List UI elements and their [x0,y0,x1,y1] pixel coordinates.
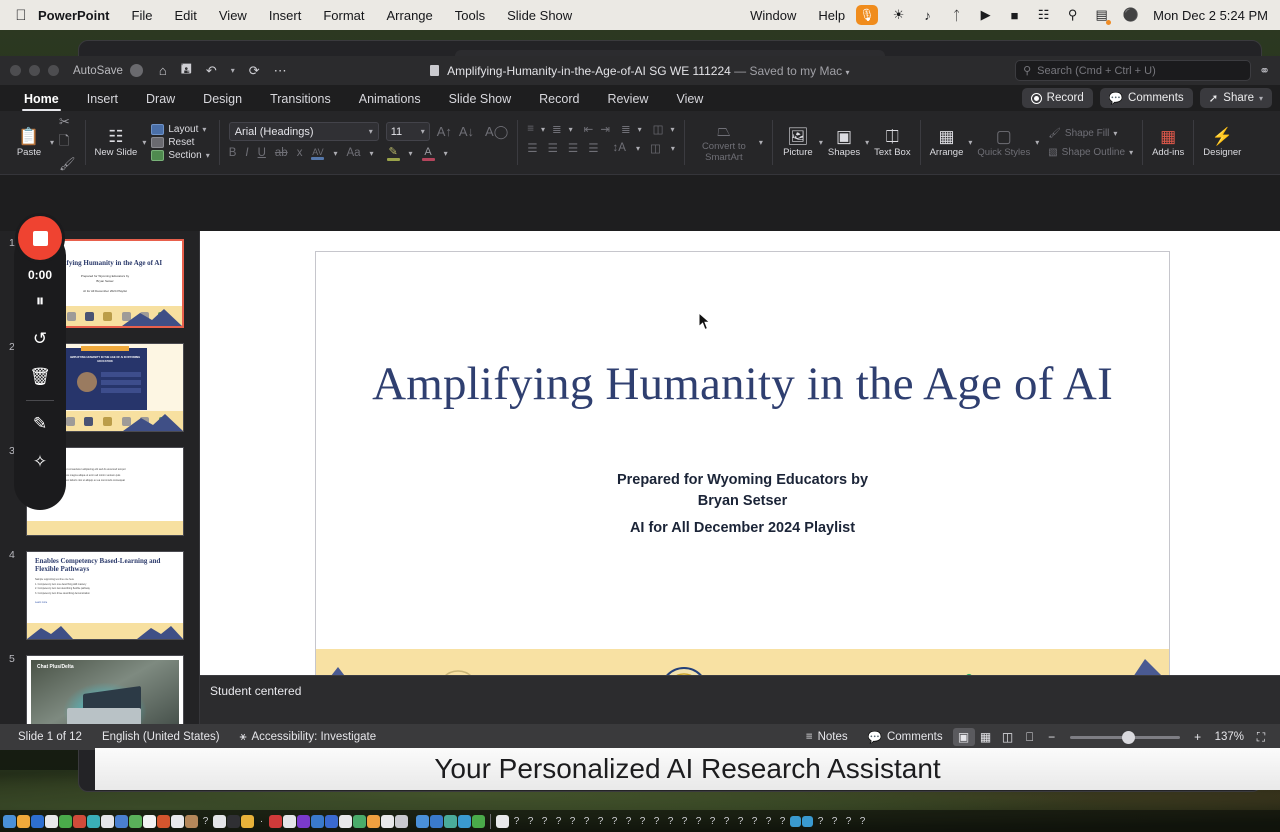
dock-icon-pages[interactable] [213,815,226,828]
presenter-view-icon[interactable]: ⎕ [1019,728,1041,746]
chevron-down-icon: ▾ [369,127,373,136]
add-ins-icon: ▦ [1160,127,1176,147]
ribbon-home-tab-content: 📋 Paste ▾ ✂ 🗋 🖌 ☷ New Slide ▾ Layout [0,111,1280,175]
chevron-down-icon[interactable]: ▾ [444,149,448,158]
dock-icon-unknown[interactable]: ? [664,816,677,827]
font-size-input[interactable]: 11 ▾ [386,122,430,141]
dock-icon-unknown[interactable]: ? [552,816,565,827]
apple-logo-icon[interactable]:  [8,8,34,23]
control-center-icon[interactable]: ▤ [1093,7,1110,24]
slide-count-label: Slide 1 of 12 [8,731,92,743]
dock-icon-unknown[interactable]: ? [524,816,537,827]
copy-icon[interactable]: 🗋 [59,132,76,154]
dock-icon-maps[interactable] [115,815,128,828]
powerpoint-titlebar: AutoSave ⌂ 🖪 ↶ ▾ ⟳ ⋯ Amplifying-Humanity… [0,56,1280,85]
menu-window[interactable]: Window [739,8,807,23]
redo-icon[interactable]: ⟳ [249,63,260,79]
scissors-icon[interactable]: ✂ [59,114,76,130]
minimize-window-button[interactable] [29,65,40,76]
slide-sorter-icon[interactable]: ▦ [975,728,997,746]
search-icon: ⚲ [1023,64,1031,77]
comments-button[interactable]: 💬 Comments [858,730,953,744]
bold-button[interactable]: B [229,147,237,159]
file-icon [430,65,439,76]
picture-label: Picture [783,148,813,159]
tab-design[interactable]: Design [189,92,256,111]
thumbnail-footer-band [27,623,183,639]
dock-icon-photos[interactable] [143,815,156,828]
chevron-down-icon[interactable]: ▾ [370,149,374,158]
dock-icon-unknown[interactable]: ? [538,816,551,827]
accessibility-icon: ⚹ [240,731,247,744]
ribbon-divider [684,120,685,165]
dock-icon-calendar[interactable] [87,815,100,828]
add-ins-button[interactable]: ▦ Add-ins [1152,127,1184,159]
slide-thumbnail-4[interactable]: 4 Enables Competency Based-Learning and … [26,551,184,640]
shape-outline-icon: ▧ [1048,147,1057,158]
dock-icon-unknown[interactable]: ? [842,816,855,827]
title-chevron-down-icon[interactable]: ▾ [846,68,850,77]
workspace: 1 Amplifying Humanity in the Age of AI P… [0,231,1280,724]
menu-edit[interactable]: Edit [163,8,207,23]
chevron-down-icon[interactable]: ▾ [409,149,413,158]
convert-to-smartart-button[interactable]: ⏢ Convert to SmartArt [694,121,754,163]
tab-review[interactable]: Review [593,92,662,111]
chevron-down-icon[interactable]: ▾ [541,125,545,134]
dock-icon-unknown[interactable]: ? [856,816,869,827]
quick-styles-label: Quick Styles [977,148,1030,159]
dock-icon-settings[interactable] [395,815,408,828]
arrange-button[interactable]: ▦ Arrange [930,127,964,159]
record-button[interactable]: Record [1022,88,1093,108]
dock-icon-documents[interactable] [444,815,457,828]
dock-icon-keynote[interactable] [241,815,254,828]
fit-to-window-icon[interactable]: ⛶ [1250,728,1272,746]
siri-icon[interactable]: ⚫ [1122,7,1139,24]
ribbon-group-drawing: ▦ Arrange ▾ ▢ Quick Styles ▾ 🖌 Shape Fil… [923,113,1141,172]
close-window-button[interactable] [10,65,21,76]
window-controls[interactable] [10,65,59,76]
comments-button[interactable]: 💬 Comments [1100,88,1193,108]
dock-icon-unknown[interactable]: ? [636,816,649,827]
ribbon-divider [772,120,773,165]
dock-icon-mail[interactable] [45,815,58,828]
ai-window-heading: Your Personalized AI Research Assistant [434,753,940,785]
quick-styles-icon: ▢ [996,127,1012,147]
share-button-label: Share [1223,92,1254,104]
dock-icon-unknown[interactable]: ? [566,816,579,827]
designer-label: Designer [1203,148,1241,159]
chevron-down-icon[interactable]: ▾ [636,144,640,153]
strikethrough-button[interactable]: ab [275,147,288,159]
ribbon-divider [1142,120,1143,165]
chevron-down-icon: ▾ [1129,148,1133,157]
autosave-toggle[interactable] [130,64,143,77]
slide-playlist-textbox[interactable]: AI for All December 2024 Playlist [316,520,1169,536]
slide-subtitle-textbox[interactable]: Prepared for Wyoming Educators by Bryan … [316,470,1169,511]
menu-view[interactable]: View [208,8,258,23]
mouse-cursor [698,312,711,331]
shape-fill-button[interactable]: 🖌 Shape Fill ▾ [1048,128,1133,139]
chevron-down-icon[interactable]: ▾ [865,138,869,147]
decrease-font-size-icon[interactable]: A↓ [459,124,474,139]
shape-outline-label: Shape Outline [1062,147,1125,158]
language-label[interactable]: English (United States) [92,731,230,743]
accessibility-button[interactable]: ⚹ Accessibility: Investigate [230,731,387,744]
chevron-down-icon: ▾ [206,151,210,160]
layout-button[interactable]: Layout ▾ [151,124,209,135]
pause-recording-button[interactable]: ⏸ [14,282,66,320]
clipboard-icon: 📋 [18,127,39,147]
record-dot-icon [1031,93,1042,104]
dock-icon-reminders[interactable] [171,815,184,828]
search-placeholder: Search (Cmd + Ctrl + U) [1037,65,1156,77]
current-slide[interactable]: Amplifying Humanity in the Age of AI Pre… [315,251,1170,734]
thumbnail-title: Chat Plus/Delta [37,664,74,670]
tab-transitions[interactable]: Transitions [256,92,345,111]
home-icon[interactable]: ⌂ [159,63,167,78]
accessibility-label: Accessibility: Investigate [251,731,376,743]
dock-icon-sheets[interactable] [472,815,485,828]
font-name-value: Arial (Headings) [235,126,314,138]
convert-to-smartart-label: Convert to SmartArt [694,142,754,163]
dock-icon-unknown[interactable]: ? [622,816,635,827]
dock-icon-messages[interactable] [59,815,72,828]
zoom-out-button[interactable]: − [1041,728,1063,746]
recording-timer: 0:00 [28,268,52,282]
slide-title-textbox[interactable]: Amplifying Humanity in the Age of AI [316,357,1169,411]
zoom-level-label: 137% [1209,731,1250,743]
tab-slide-show[interactable]: Slide Show [435,92,526,111]
decrease-indent-icon[interactable]: ⇤ [580,122,594,136]
smartart-icon: ⏢ [717,121,731,141]
menu-format[interactable]: Format [312,8,375,23]
ribbon-divider [517,120,518,165]
section-icon [151,150,164,161]
comment-bubble-icon: 💬 [868,730,882,744]
record-button-label: Record [1047,92,1084,104]
chevron-down-icon[interactable]: ▾ [671,144,675,153]
notes-pane[interactable]: Student centered [200,675,1280,724]
paste-button[interactable]: 📋 Paste [13,127,45,159]
menu-file[interactable]: File [121,8,164,23]
slide-number: 5 [9,653,15,665]
dock-icon-app[interactable] [802,816,813,827]
chevron-down-icon[interactable]: ▾ [638,125,642,134]
dock-icon-excel[interactable] [353,815,366,828]
add-ins-label: Add-ins [1152,148,1184,159]
ribbon-group-addins: ▦ Add-ins [1145,113,1191,172]
dock-icon-unknown[interactable]: ? [650,816,663,827]
document-name: Amplifying-Humanity-in-the-Age-of-AI SG … [447,64,731,78]
increase-indent-icon[interactable]: ⇥ [600,122,610,136]
menu-tools[interactable]: Tools [444,8,496,23]
dock-icon-notes[interactable] [101,815,114,828]
arrange-icon: ▦ [938,127,954,147]
zoom-slider[interactable] [1070,736,1180,739]
sun-icon[interactable]: ☀ [890,7,907,24]
ribbon-divider [1193,120,1194,165]
wifi-icon[interactable]: ☷ [1035,7,1052,24]
slide-thumbnail-5[interactable]: 5 Chat Plus/Delta [26,655,184,724]
align-center-icon[interactable]: ☰ [548,141,558,155]
dock-icon-unknown[interactable]: ? [748,816,761,827]
dock-icon-onenote[interactable] [297,815,310,828]
font-name-input[interactable]: Arial (Headings) ▾ [229,122,379,141]
increase-font-size-icon[interactable]: A↑ [437,124,452,139]
dock-icon-unknown[interactable]: ? [720,816,733,827]
new-slide-label: New Slide [95,148,138,159]
designer-icon: ⚡ [1212,127,1233,147]
dock-icon-teams[interactable] [311,815,324,828]
dock-icon-slack[interactable] [367,815,380,828]
screen-record-icon[interactable]: ▶ [977,7,994,24]
collaborators-icon[interactable]: ⚭ [1259,63,1270,79]
reset-icon [151,137,164,148]
slide-number: 1 [9,237,15,249]
chevron-down-icon[interactable]: ▾ [333,149,337,158]
toolbar-divider [26,400,54,401]
bluetooth-icon[interactable]: ᛏ [948,7,965,24]
tab-view[interactable]: View [662,92,717,111]
text-highlight-icon[interactable]: ✎ [387,145,400,161]
zoom-in-button[interactable]: + [1187,728,1209,746]
chevron-down-icon: ▾ [421,127,425,136]
text-shadow-button[interactable]: x [297,147,303,159]
shape-fill-icon: 🖌 [1048,128,1061,139]
menu-bar-clock[interactable]: Mon Dec 2 5:24 PM [1151,8,1268,23]
ai-research-assistant-window[interactable]: Your Personalized AI Research Assistant [95,748,1280,790]
chevron-down-icon: ▾ [202,125,206,134]
maximize-window-button[interactable] [48,65,59,76]
delete-recording-button[interactable]: 🗑 [14,358,66,396]
ribbon-group-paragraph: ≡ ▾ ≣ ▾ ⇤ ⇥ ≣ ▾ ◫ ▾ ☰ ☰ ☰ ☰ ↕A ▾ ◫ ▾ [520,113,682,172]
chevron-down-icon[interactable]: ▾ [759,138,763,147]
menu-insert[interactable]: Insert [258,8,313,23]
dock-icon-drive[interactable] [458,815,471,828]
designer-button[interactable]: ⚡ Designer [1203,127,1241,159]
text-direction-icon[interactable]: ↕A [609,142,626,154]
screen-recording-toolbar[interactable]: 0:00 ⏸ ↺ 🗑 ✎ ✧ [14,230,66,510]
pencil-icon[interactable]: ✎ [14,405,66,443]
chevron-down-icon[interactable]: ▾ [670,125,674,134]
paste-chevron-down-icon[interactable]: ▾ [50,138,54,147]
ribbon-group-designer: ⚡ Designer [1196,113,1248,172]
format-painter-icon[interactable]: 🖌 [59,156,76,172]
arrange-label: Arrange [930,148,964,159]
dock-icon-word[interactable] [283,815,296,828]
shapes-label: Shapes [828,148,860,159]
autosave-label: AutoSave [73,65,123,77]
ribbon-divider [85,120,86,165]
dock-icon-folder[interactable] [430,815,443,828]
dock-icon-unknown[interactable]: ? [580,816,593,827]
save-icon[interactable]: 🖪 [181,60,192,82]
menu-help[interactable]: Help [807,8,856,23]
dock-icon-outlook[interactable] [325,815,338,828]
dock-icon-unknown[interactable]: ? [594,816,607,827]
dock-icon-unknown[interactable]: ? [734,816,747,827]
shape-fill-label: Shape Fill [1065,128,1109,139]
spotlight-search-icon[interactable]: ⚲ [1064,7,1081,24]
dock-icon-unknown[interactable]: ? [828,816,841,827]
ribbon-group-font: Arial (Headings) ▾ 11 ▾ A↑ A↓ A◯ B I U a… [222,113,516,172]
underline-button[interactable]: U [258,147,266,159]
menu-app-name[interactable]: PowerPoint [34,8,121,23]
tab-animations[interactable]: Animations [345,92,435,111]
change-case-icon[interactable]: Aa [346,147,360,159]
chevron-down-icon[interactable]: ▾ [819,138,823,147]
reset-button[interactable]: Reset [151,137,209,148]
dock-icon-app[interactable] [790,816,801,827]
bluetooth-device-icon[interactable]: ♪ [919,7,936,24]
normal-view-icon[interactable]: ▣ [953,728,975,746]
undo-icon[interactable]: ↶ [206,63,217,79]
thumbnail-title: Enables Competency Based-Learning and Fl… [27,552,183,574]
ribbon-divider [920,120,921,165]
new-slide-button[interactable]: ☷ New Slide [95,127,138,159]
character-spacing-icon[interactable]: AV [311,147,324,160]
dock-icon-unknown[interactable]: ? [762,816,775,827]
ribbon-tab-bar: Home Insert Draw Design Transitions Anim… [0,85,1280,111]
menu-slide-show[interactable]: Slide Show [496,8,583,23]
chevron-down-icon: ▾ [1259,94,1263,103]
dock-icon-unknown[interactable]: ? [692,816,705,827]
comment-bubble-icon: 💬 [1109,91,1123,105]
new-slide-chevron-down-icon[interactable]: ▾ [142,138,146,147]
dock-icon-chrome[interactable] [381,815,394,828]
align-right-icon[interactable]: ☰ [568,141,578,155]
italic-button[interactable]: I [245,147,248,159]
ribbon-group-smartart: ⏢ Convert to SmartArt ▾ [687,113,770,172]
chevron-down-icon[interactable]: ▾ [968,138,972,147]
comments-button-label: Comments [1128,92,1184,104]
justify-icon[interactable]: ☰ [588,141,598,155]
subtitle-line-1: Prepared for Wyoming Educators by [617,472,868,488]
dock-icon-safari[interactable] [31,815,44,828]
dock-icon-music[interactable] [73,815,86,828]
quick-styles-button[interactable]: ▢ Quick Styles [977,127,1030,159]
section-label: Section [168,150,201,161]
tab-record[interactable]: Record [525,92,593,111]
chevron-down-icon[interactable]: ▾ [569,125,573,134]
align-text-icon[interactable]: ◫ [650,141,661,155]
section-button[interactable]: Section ▾ [151,150,209,161]
dock-icon-unknown[interactable]: · [255,816,268,827]
notes-text: Student centered [210,684,301,698]
dock-divider [490,814,491,829]
chevron-down-icon[interactable]: ▾ [231,66,235,75]
dock-icon-contacts[interactable] [185,815,198,828]
tab-home[interactable]: Home [10,92,73,111]
bullets-icon[interactable]: ≡ [527,123,534,135]
new-slide-icon: ☷ [108,127,123,147]
dock-icon-unknown[interactable]: ? [608,816,621,827]
notes-button[interactable]: ≡ Notes [796,731,858,743]
layout-label: Layout [168,124,198,135]
dock-icon-unknown[interactable]: ? [510,816,523,827]
font-size-value: 11 [391,126,402,138]
dock-icon-facetime[interactable] [129,815,142,828]
shapes-button[interactable]: ▣ Shapes [828,127,860,159]
dock-icon-powerpoint[interactable] [269,815,282,828]
notes-icon: ≡ [806,731,813,743]
battery-icon[interactable]: ■ [1006,7,1023,24]
ribbon-group-slides: ☷ New Slide ▾ Layout ▾ Reset Section ▾ [88,113,217,172]
microphone-icon[interactable]: 🎙 [856,5,878,25]
picture-button[interactable]: 🖼 Picture [782,127,814,159]
zoom-slider-handle[interactable] [1122,731,1135,744]
layout-icon [151,124,164,135]
share-icon: ➚ [1209,91,1219,105]
shape-outline-button[interactable]: ▧ Shape Outline ▾ [1048,147,1133,158]
font-color-icon[interactable]: A [422,146,435,161]
stop-recording-button[interactable] [18,216,62,260]
comments-label: Comments [887,731,943,743]
more-icon[interactable]: ⋯ [274,63,287,79]
line-spacing-icon[interactable]: ≣ [617,122,631,136]
dock-icon-trash[interactable] [496,815,509,828]
dock-icon-unknown[interactable]: ? [199,816,212,827]
powerpoint-window: AutoSave ⌂ 🖪 ↶ ▾ ⟳ ⋯ Amplifying-Humanity… [0,56,1280,750]
dock-icon-zoom[interactable] [339,815,352,828]
dock-icon-terminal[interactable] [227,815,240,828]
reset-label: Reset [168,137,194,148]
columns-icon[interactable]: ◫ [649,122,664,136]
chevron-down-icon[interactable]: ▾ [1035,138,1039,147]
dock-icon-downloads[interactable] [416,815,429,828]
dock-icon-unknown[interactable]: ? [776,816,789,827]
dock-icon-appstore[interactable] [157,815,170,828]
ribbon-divider [219,120,220,165]
numbering-icon[interactable]: ≣ [552,122,562,136]
reading-view-icon[interactable]: ◫ [997,728,1019,746]
dock-icon-unknown[interactable]: ? [814,816,827,827]
ribbon-group-insert: 🖼 Picture ▾ ▣ Shapes ▾ ⎅ Text Box [775,113,918,172]
dock-icon-unknown[interactable]: ? [678,816,691,827]
mac-menu-bar:  PowerPoint File Edit View Insert Forma… [0,0,1280,30]
text-box-label: Text Box [874,148,910,159]
tab-draw[interactable]: Draw [132,92,189,111]
align-left-icon[interactable]: ☰ [527,141,537,155]
dock-icon-finder[interactable] [3,815,16,828]
chevron-down-icon: ▾ [1113,129,1117,138]
saved-state: — Saved to my Mac [734,64,842,78]
tab-insert[interactable]: Insert [73,92,132,111]
dock-icon-launchpad[interactable] [17,815,30,828]
search-input[interactable]: ⚲ Search (Cmd + Ctrl + U) [1015,60,1251,81]
thumbnail-footer-band [27,521,183,535]
ribbon-group-clipboard: 📋 Paste ▾ ✂ 🗋 🖌 [6,113,83,172]
menu-arrange[interactable]: Arrange [376,8,444,23]
paste-label: Paste [17,148,41,159]
picture-icon: 🖼 [787,127,809,147]
slide-editing-area[interactable]: Amplifying Humanity in the Age of AI Pre… [200,231,1280,724]
subtitle-line-2: Bryan Setser [698,493,787,509]
notes-label: Notes [818,731,848,743]
clear-formatting-icon[interactable]: A◯ [485,124,508,140]
slide-number: 4 [9,549,15,561]
magic-wand-icon[interactable]: ✧ [14,443,66,481]
shapes-icon: ▣ [836,127,852,147]
status-bar: Slide 1 of 12 English (United States) ⚹ … [0,724,1280,750]
mac-dock[interactable]: ? · ? ? ? ? ? ? ? ? ? ? ? ? ? ? ? ? ? ? … [0,810,1280,832]
restart-recording-button[interactable]: ↺ [14,320,66,358]
text-box-button[interactable]: ⎅ Text Box [874,127,910,159]
share-button[interactable]: ➚ Share ▾ [1200,88,1272,108]
dock-icon-unknown[interactable]: ? [706,816,719,827]
text-box-icon: ⎅ [886,127,900,147]
